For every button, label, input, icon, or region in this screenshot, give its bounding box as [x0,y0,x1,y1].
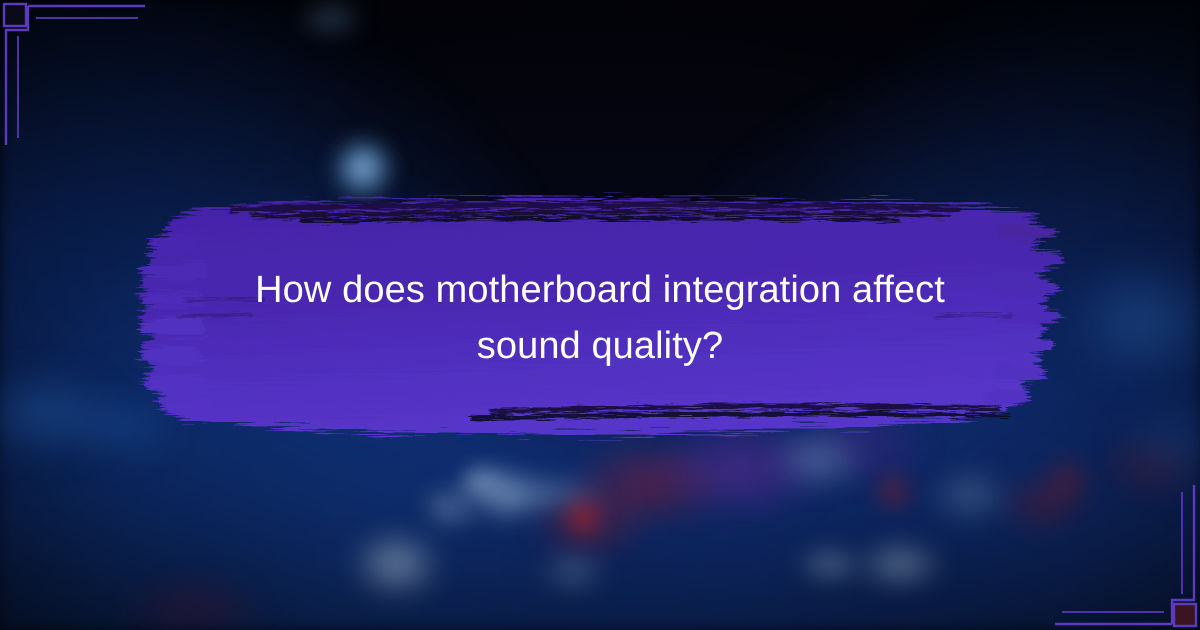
question-card-canvas: How does motherboard integration affect … [0,0,1200,630]
paint-stroke-top-texture [230,202,960,224]
question-headline: How does motherboard integration affect … [190,262,1010,374]
